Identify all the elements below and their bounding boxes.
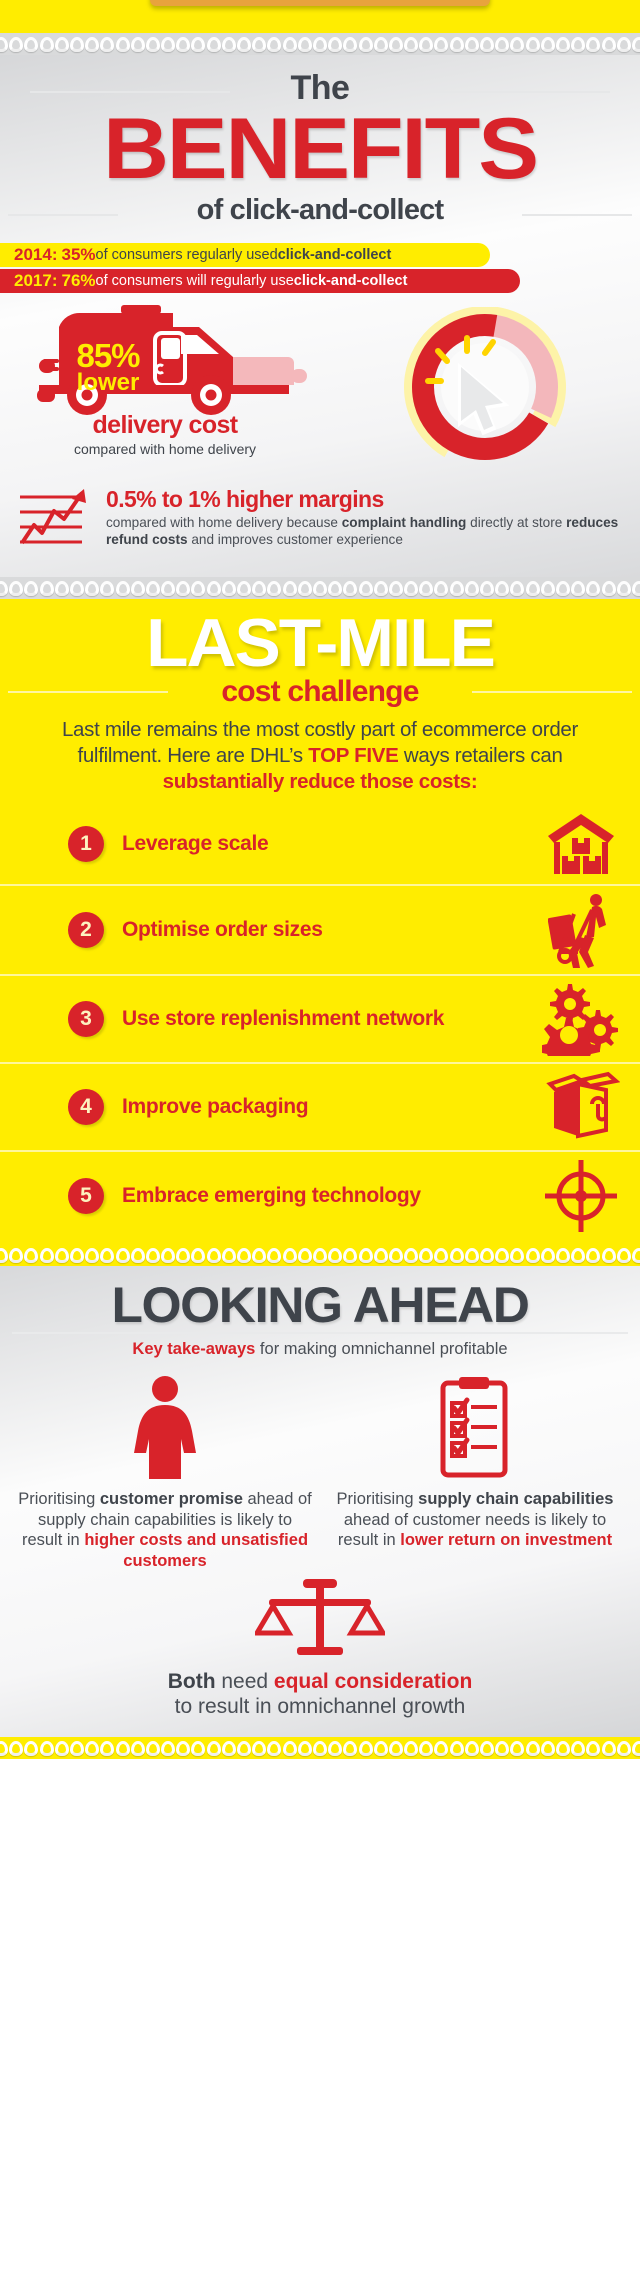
margin-body: compared with home delivery because comp… bbox=[106, 514, 626, 549]
stat-mid-2017: of consumers will regularly use bbox=[96, 273, 294, 289]
infographic-page: The BENEFITS of click-and-collect 2014: … bbox=[0, 0, 640, 1759]
tip-label: Improve packaging bbox=[122, 1095, 538, 1119]
tip-row-4[interactable]: 4 Improve packaging bbox=[0, 1062, 640, 1150]
tip-label: Optimise order sizes bbox=[122, 918, 538, 942]
tip-label: Leverage scale bbox=[122, 832, 538, 856]
takeaway-1-b1: customer promise bbox=[100, 1490, 243, 1508]
top-tab-shape bbox=[150, 0, 490, 6]
stat-pct-2017: 76% bbox=[62, 271, 96, 291]
closing-2: to result in omnichannel growth bbox=[175, 1695, 466, 1718]
truck-percent-word: lower bbox=[48, 372, 168, 394]
closing-1: need bbox=[216, 1670, 274, 1693]
lastmile-title: LAST-MILE bbox=[0, 599, 640, 677]
takeaway-column-2: Prioritising supply chain capabilities a… bbox=[320, 1371, 630, 1571]
closing-bold: Both bbox=[168, 1670, 216, 1693]
lastmile-intro-2: ways retailers can bbox=[399, 744, 563, 767]
lastmile-subtitle: cost challenge bbox=[0, 675, 640, 709]
growth-chart-icon bbox=[16, 485, 96, 557]
section-lastmile: LAST-MILE cost challenge Last mile remai… bbox=[0, 599, 640, 1244]
truck-percent-callout: 85% lower bbox=[48, 341, 168, 393]
lastmile-intro-bold-2: substantially reduce those costs: bbox=[163, 770, 478, 793]
scales-wrapper bbox=[0, 1577, 640, 1663]
warehouse-icon bbox=[538, 810, 624, 878]
takeaway-text-1: Prioritising customer promise ahead of s… bbox=[18, 1489, 312, 1571]
gears-icon bbox=[538, 982, 624, 1056]
closing-red: equal consideration bbox=[274, 1670, 472, 1693]
tip-row-3[interactable]: 3 Use store replenishment network bbox=[0, 974, 640, 1062]
truck-column: 85% lower delivery cost compared with ho… bbox=[0, 299, 330, 457]
tip-number-badge: 4 bbox=[68, 1089, 104, 1125]
tip-row-5[interactable]: 5 Embrace emerging technology bbox=[0, 1150, 640, 1240]
tip-number-badge: 1 bbox=[68, 826, 104, 862]
stat-pct-2014: 35% bbox=[62, 245, 96, 265]
tip-label: Embrace emerging technology bbox=[122, 1184, 538, 1208]
section-benefits: The BENEFITS of click-and-collect 2014: … bbox=[0, 55, 640, 577]
margin-body-3: and improves customer experience bbox=[188, 532, 403, 547]
tip-label: Use store replenishment network bbox=[122, 1007, 538, 1031]
margin-body-bold-1: complaint handling bbox=[342, 515, 467, 530]
truck-subcaption: compared with home delivery bbox=[0, 441, 330, 457]
stat-bars: 2014: 35% of consumers regularly used cl… bbox=[0, 243, 640, 293]
lastmile-intro-bold-1: TOP FIVE bbox=[308, 744, 398, 767]
stat-bar-2017: 2017: 76% of consumers will regularly us… bbox=[0, 269, 520, 293]
stat-em-2014: click-and-collect bbox=[278, 247, 392, 263]
ahead-subtitle-bold: Key take-aways bbox=[132, 1340, 255, 1358]
hand-truck-icon bbox=[538, 892, 624, 968]
takeaway-text-2: Prioritising supply chain capabilities a… bbox=[328, 1489, 622, 1550]
chain-divider-top bbox=[0, 33, 640, 55]
ahead-subtitle-rest: for making omnichannel profitable bbox=[255, 1340, 507, 1358]
margin-body-1: compared with home delivery because bbox=[106, 515, 342, 530]
margin-text-block: 0.5% to 1% higher margins compared with … bbox=[106, 485, 626, 548]
tip-number-badge: 5 bbox=[68, 1178, 104, 1214]
takeaway-1-red: higher costs and unsatisfied customers bbox=[84, 1531, 308, 1569]
margin-body-2: directly at store bbox=[466, 515, 566, 530]
takeaway-column-1: Prioritising customer promise ahead of s… bbox=[10, 1371, 320, 1571]
click-cursor-donut-icon bbox=[395, 307, 575, 477]
stat-bar-2014: 2014: 35% of consumers regularly used cl… bbox=[0, 243, 490, 267]
chain-links bbox=[0, 577, 640, 599]
chain-divider-middle-2 bbox=[0, 1244, 640, 1266]
chain-links bbox=[0, 1737, 640, 1759]
chain-divider-bottom bbox=[0, 1737, 640, 1759]
tip-number-badge: 2 bbox=[68, 912, 104, 948]
benefits-title: BENEFITS bbox=[0, 109, 640, 191]
closing-text: Both need equal considerationto result i… bbox=[0, 1663, 640, 1733]
section-looking-ahead: LOOKING AHEAD Key take-aways for making … bbox=[0, 1266, 640, 1737]
lastmile-intro: Last mile remains the most costly part o… bbox=[0, 709, 640, 800]
tip-row-1[interactable]: 1 Leverage scale bbox=[0, 804, 640, 884]
takeaway-columns: Prioritising customer promise ahead of s… bbox=[0, 1363, 640, 1571]
open-box-icon bbox=[538, 1070, 624, 1144]
takeaway-2-red: lower return on investment bbox=[400, 1531, 612, 1549]
chain-links bbox=[0, 33, 640, 55]
benefits-subtitle: of click-and-collect bbox=[0, 194, 640, 227]
truck-caption: delivery cost bbox=[0, 411, 330, 440]
stat-year-2017: 2017: bbox=[14, 271, 57, 291]
chain-links bbox=[0, 1244, 640, 1266]
tips-list: 1 Leverage scale bbox=[0, 804, 640, 1240]
ahead-subtitle: Key take-aways for making omnichannel pr… bbox=[0, 1340, 640, 1363]
target-icon bbox=[538, 1158, 624, 1234]
stat-mid-2014: of consumers regularly used bbox=[96, 247, 278, 263]
click-donut-column bbox=[330, 299, 640, 477]
stat-em-2017: click-and-collect bbox=[294, 273, 408, 289]
person-icon bbox=[18, 1371, 312, 1479]
truck-and-cursor-row: 85% lower delivery cost compared with ho… bbox=[0, 293, 640, 483]
takeaway-2-t1: Prioritising bbox=[337, 1490, 419, 1508]
tip-number-badge: 3 bbox=[68, 1001, 104, 1037]
scales-icon bbox=[255, 1577, 385, 1663]
takeaway-1-t1: Prioritising bbox=[18, 1490, 100, 1508]
clipboard-checklist-icon bbox=[328, 1371, 622, 1479]
stat-year-2014: 2014: bbox=[14, 245, 57, 265]
ahead-title: LOOKING AHEAD bbox=[0, 1266, 640, 1330]
tip-row-2[interactable]: 2 Optimise order sizes bbox=[0, 884, 640, 974]
margin-row: 0.5% to 1% higher margins compared with … bbox=[0, 483, 640, 567]
margin-headline: 0.5% to 1% higher margins bbox=[106, 487, 626, 511]
truck-percent-value: 85% bbox=[48, 341, 168, 371]
chain-divider-middle-1 bbox=[0, 577, 640, 599]
top-yellow-strip bbox=[0, 0, 640, 33]
takeaway-2-b1: supply chain capabilities bbox=[418, 1490, 613, 1508]
